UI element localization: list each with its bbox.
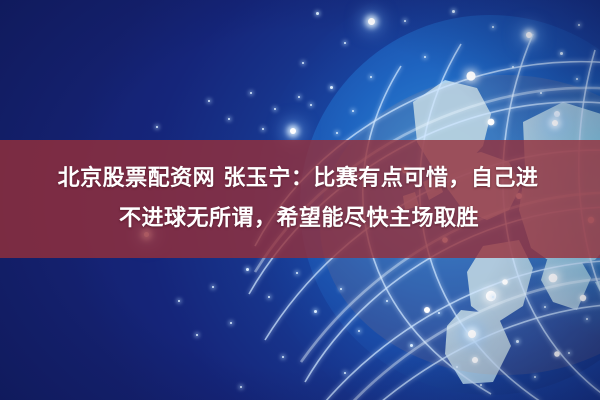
caption-line-1: 北京股票配资网 张玉宁：比赛有点可惜，自己进 xyxy=(58,159,539,199)
banner-image: 北京股票配资网 张玉宁：比赛有点可惜，自己进 不进球无所谓，希望能尽快主场取胜 xyxy=(0,0,600,400)
caption-line-2: 不进球无所谓，希望能尽快主场取胜 xyxy=(119,199,479,239)
caption-band: 北京股票配资网 张玉宁：比赛有点可惜，自己进 不进球无所谓，希望能尽快主场取胜 xyxy=(0,140,600,258)
